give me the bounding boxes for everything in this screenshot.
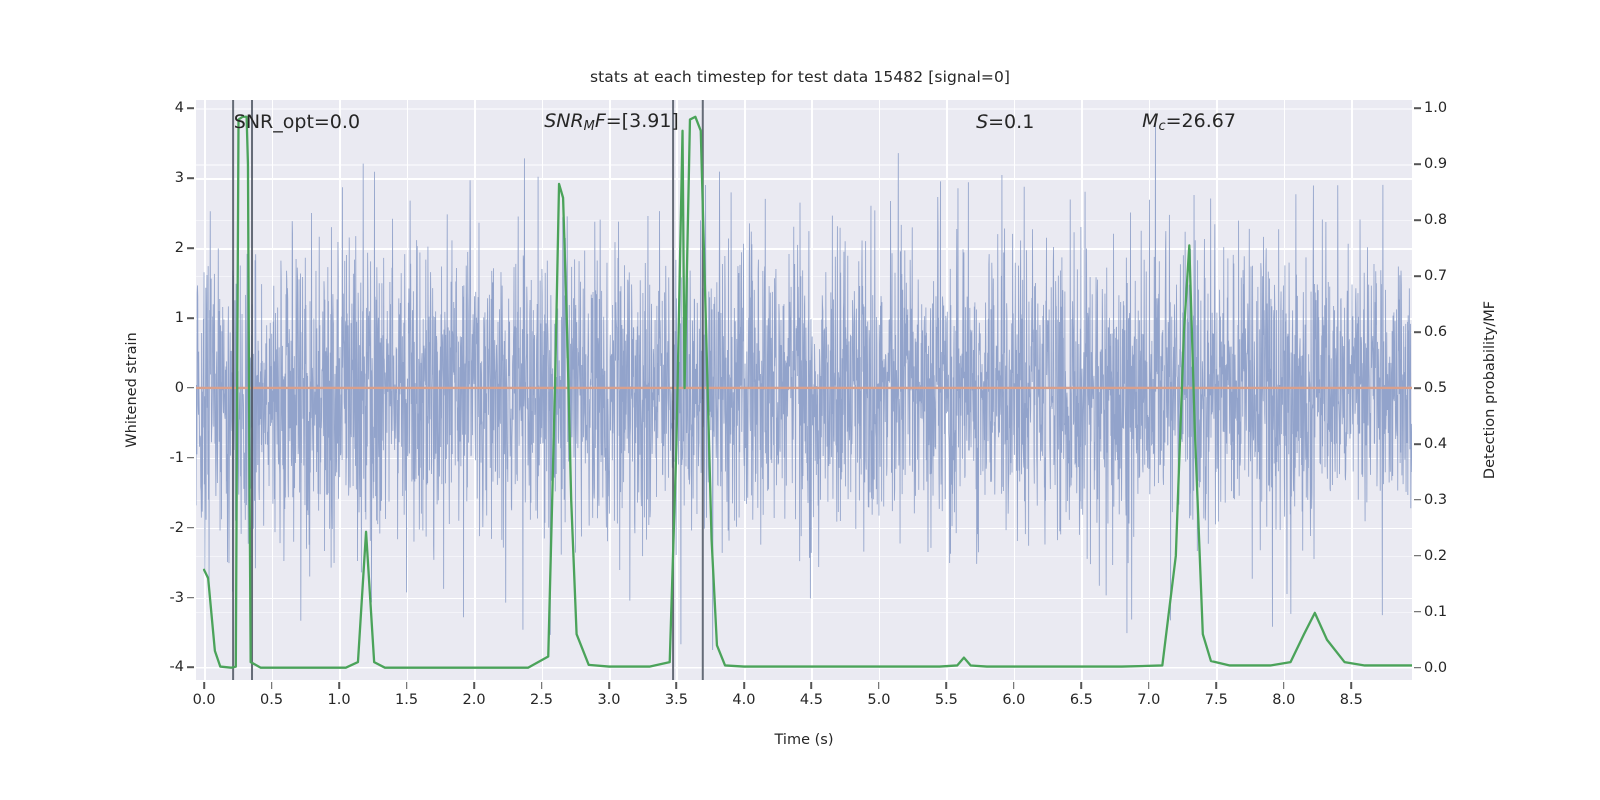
- tick-mark: [187, 597, 194, 599]
- tick-label: 8.0: [1272, 692, 1295, 708]
- tick-label: 3.5: [665, 692, 688, 708]
- tick-mark: [1081, 682, 1083, 689]
- tick-mark: [406, 682, 408, 689]
- tick-label: 0.0: [1424, 660, 1447, 676]
- y-axis-right-label: Detection probability/MF: [1482, 301, 1498, 479]
- tick-mark: [743, 682, 745, 689]
- tick-mark: [187, 177, 194, 179]
- tick-mark: [1414, 499, 1421, 501]
- tick-label: 5.0: [867, 692, 890, 708]
- tick-mark: [1148, 682, 1150, 689]
- tick-label: 6.0: [1002, 692, 1025, 708]
- tick-label: 0.8: [1424, 212, 1447, 228]
- tick-label: 0.5: [1424, 380, 1447, 396]
- tick-mark: [187, 247, 194, 249]
- tick-mark: [1350, 682, 1352, 689]
- tick-mark: [541, 682, 543, 689]
- tick-mark: [1013, 682, 1015, 689]
- x-axis-ticks: 0.00.51.01.52.02.53.03.54.04.55.05.56.06…: [196, 100, 1412, 680]
- tick-mark: [1414, 219, 1421, 221]
- tick-mark: [187, 108, 194, 110]
- tick-label: -2: [170, 520, 184, 536]
- tick-mark: [1414, 667, 1421, 669]
- tick-mark: [271, 682, 273, 689]
- tick-mark: [1414, 555, 1421, 557]
- tick-mark: [473, 682, 475, 689]
- tick-mark: [1414, 331, 1421, 333]
- x-axis-label: Time (s): [775, 732, 834, 748]
- tick-mark: [946, 682, 948, 689]
- tick-mark: [1414, 275, 1421, 277]
- tick-mark: [338, 682, 340, 689]
- tick-mark: [187, 527, 194, 529]
- tick-mark: [1414, 387, 1421, 389]
- tick-label: 3: [175, 170, 184, 186]
- tick-mark: [187, 457, 194, 459]
- tick-label: 0.0: [193, 692, 216, 708]
- tick-mark: [203, 682, 205, 689]
- tick-label: -3: [170, 590, 184, 606]
- tick-label: 0.9: [1424, 156, 1447, 172]
- tick-mark: [1283, 682, 1285, 689]
- tick-label: 7.5: [1205, 692, 1228, 708]
- tick-label: 4.0: [732, 692, 755, 708]
- tick-mark: [878, 682, 880, 689]
- tick-label: 1.5: [395, 692, 418, 708]
- tick-label: -1: [170, 450, 184, 466]
- tick-label: 1: [175, 310, 184, 326]
- tick-mark: [187, 387, 194, 389]
- tick-label: 5.5: [935, 692, 958, 708]
- tick-label: 2.5: [530, 692, 553, 708]
- tick-label: 2: [175, 240, 184, 256]
- tick-label: 1.0: [328, 692, 351, 708]
- tick-label: 3.0: [597, 692, 620, 708]
- tick-label: 0.7: [1424, 268, 1447, 284]
- tick-label: 0.6: [1424, 324, 1447, 340]
- tick-label: 1.0: [1424, 100, 1447, 116]
- tick-label: 4: [175, 100, 184, 116]
- tick-label: 0.1: [1424, 604, 1447, 620]
- tick-mark: [676, 682, 678, 689]
- tick-mark: [1414, 108, 1421, 110]
- tick-label: 0.4: [1424, 436, 1447, 452]
- tick-label: 2.0: [462, 692, 485, 708]
- tick-label: 0.3: [1424, 492, 1447, 508]
- figure-title: stats at each timestep for test data 154…: [0, 68, 1600, 86]
- tick-label: 0: [175, 380, 184, 396]
- tick-mark: [1414, 164, 1421, 166]
- tick-mark: [1414, 443, 1421, 445]
- tick-label: 6.5: [1070, 692, 1093, 708]
- tick-mark: [811, 682, 813, 689]
- tick-label: 0.2: [1424, 548, 1447, 564]
- tick-mark: [187, 317, 194, 319]
- tick-label: 7.0: [1137, 692, 1160, 708]
- tick-label: -4: [170, 659, 184, 675]
- tick-mark: [1216, 682, 1218, 689]
- tick-mark: [187, 667, 194, 669]
- tick-mark: [608, 682, 610, 689]
- figure-root: stats at each timestep for test data 154…: [0, 0, 1600, 800]
- tick-label: 4.5: [800, 692, 823, 708]
- tick-mark: [1414, 611, 1421, 613]
- tick-label: 0.5: [260, 692, 283, 708]
- tick-label: 8.5: [1340, 692, 1363, 708]
- y-axis-left-label: Whitened strain: [124, 332, 140, 447]
